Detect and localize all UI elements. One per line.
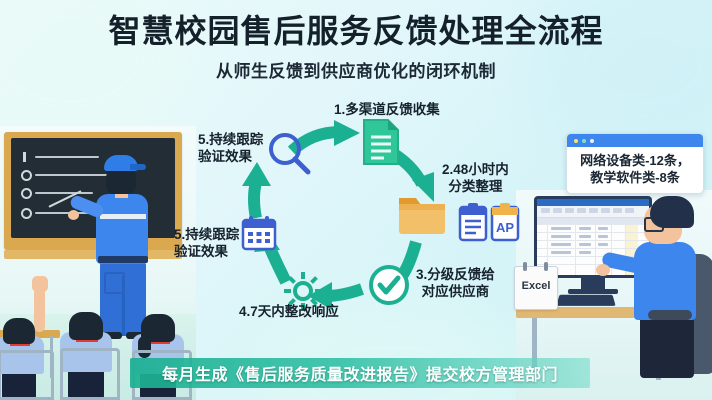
bottom-banner-text: 每月生成《售后服务质量改进报告》提交校方管理部门	[162, 361, 558, 385]
bottom-banner: 每月生成《售后服务质量改进报告》提交校方管理部门	[130, 358, 590, 388]
step-4-label: 4.7天内整改响应	[239, 303, 339, 320]
infographic-canvas: 智慧校园售后服务反馈处理全流程 从师生反馈到供应商优化的闭环机制	[0, 0, 712, 400]
stats-panel-titlebar	[567, 134, 703, 147]
blackboard	[11, 138, 175, 238]
stats-panel[interactable]: 网络设备类-12条， 教学软件类-8条	[566, 133, 704, 194]
keyboard	[556, 295, 615, 306]
check-circle-icon	[366, 262, 412, 313]
clipboard-ap-icon: AP	[490, 202, 520, 247]
stats-line-network-devices: 网络设备类-12条，	[572, 152, 698, 169]
clipboard-icon	[458, 202, 488, 247]
chalk-ledge	[4, 250, 182, 259]
step-5-label-upper: 5.持续跟踪 验证效果	[198, 131, 263, 166]
header: 智慧校园售后服务反馈处理全流程 从师生反馈到供应商优化的闭环机制	[0, 14, 712, 82]
process-cycle-diagram: AP	[184, 106, 544, 346]
stats-panel-body: 网络设备类-12条， 教学软件类-8条	[567, 147, 703, 193]
window-dot-yellow-icon	[574, 139, 578, 143]
svg-text:AP: AP	[496, 220, 514, 235]
page-subtitle: 从师生反馈到供应商优化的闭环机制	[0, 57, 712, 82]
step-1-label: 1.多渠道反馈收集	[334, 101, 440, 118]
step-2-label: 2.48小时内 分类整理	[442, 161, 509, 196]
step-5-label-lower: 5.持续跟踪 验证效果	[174, 226, 239, 261]
window-dot-green-icon	[582, 139, 586, 143]
blackboard-frame	[4, 132, 182, 250]
folder-icon	[396, 190, 448, 243]
calendar-icon	[240, 214, 278, 257]
stats-line-teaching-software: 教学软件类-8条	[572, 169, 698, 186]
window-dot-white-icon	[590, 139, 594, 143]
page-title: 智慧校园售后服务反馈处理全流程	[0, 14, 712, 50]
magnifier-icon	[266, 130, 312, 181]
document-icon	[360, 118, 402, 171]
step-3-label: 3.分级反馈给 对应供应商	[416, 266, 495, 301]
